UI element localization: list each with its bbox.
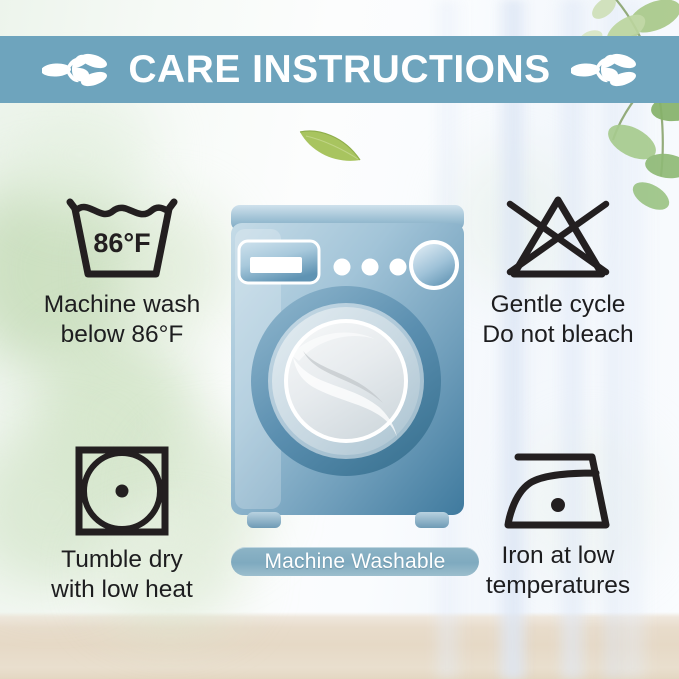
- foliage-icon: [505, 0, 679, 220]
- wash-tub-icon: 86°F: [62, 192, 182, 284]
- fleur-de-lis-ornament-left-icon: [42, 48, 108, 92]
- machine-washable-badge: Machine Washable: [231, 547, 479, 576]
- washer-door[interactable]: [251, 286, 441, 476]
- machine-foot: [415, 512, 449, 528]
- fleur-de-lis-ornament-right-icon: [571, 48, 637, 92]
- care-item-machine-wash: 86°F Machine wash below 86°F: [14, 192, 230, 350]
- care-item-iron: Iron at low temperatures: [450, 443, 666, 601]
- care-item-gentle-cycle-no-bleach: Gentle cycle Do not bleach: [450, 192, 666, 350]
- control-button[interactable]: [390, 259, 407, 276]
- machine-foot: [247, 512, 281, 528]
- page-title: CARE INSTRUCTIONS: [128, 48, 550, 92]
- care-label-tumble-dry: Tumble dry with low heat: [51, 545, 193, 605]
- header-banner: CARE INSTRUCTIONS: [0, 36, 679, 103]
- care-instructions-infographic: CARE INSTRUCTIONS 86°F Machine wash belo…: [0, 0, 679, 679]
- care-item-tumble-dry: Tumble dry with low heat: [14, 443, 230, 605]
- control-dial-knob[interactable]: [409, 240, 459, 290]
- iron-icon: [496, 443, 620, 535]
- washing-machine-illustration: [225, 205, 470, 545]
- care-label-machine-wash: Machine wash below 86°F: [44, 290, 201, 350]
- care-label-iron: Iron at low temperatures: [486, 541, 630, 601]
- control-button[interactable]: [334, 259, 351, 276]
- care-label-gentle-cycle: Gentle cycle Do not bleach: [482, 290, 633, 350]
- tumble-dry-square-icon: [70, 443, 174, 539]
- floating-leaf-icon: [296, 120, 364, 166]
- control-button[interactable]: [362, 259, 379, 276]
- badge-label: Machine Washable: [264, 550, 445, 574]
- crossed-triangle-icon: [498, 192, 618, 284]
- wash-temperature-value: 86°F: [93, 228, 150, 258]
- detergent-drawer: [239, 241, 319, 283]
